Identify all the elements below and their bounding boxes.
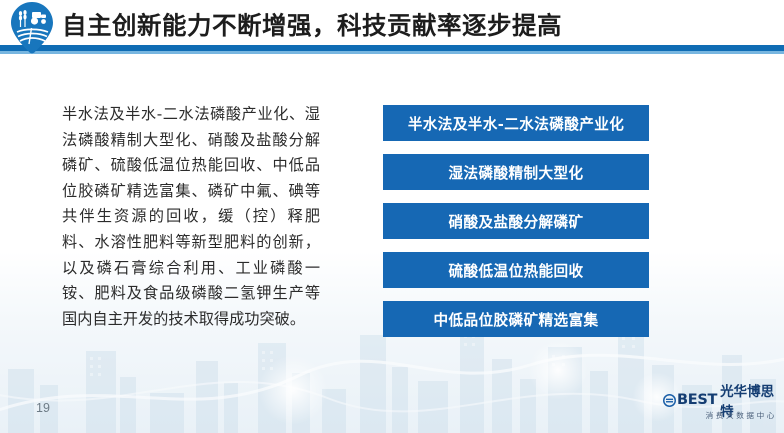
highlight-box[interactable]: 湿法磷酸精制大型化 (383, 154, 649, 190)
page-number: 19 (36, 401, 50, 415)
farm-location-pin-icon (9, 1, 55, 54)
highlight-box-list: 半水法及半水-二水法磷酸产业化 湿法磷酸精制大型化 硝酸及盐酸分解磷矿 硫酸低温… (383, 105, 649, 337)
slide-header: 自主创新能力不断增强，科技贡献率逐步提高 (0, 0, 784, 54)
highlight-box[interactable]: 中低品位胶磷矿精选富集 (383, 301, 649, 337)
highlight-box[interactable]: 硫酸低温位热能回收 (383, 252, 649, 288)
brand-tagline: 消费大数据中心 (663, 410, 777, 421)
best-circle-icon (663, 394, 676, 407)
header-accent-bar-light (0, 51, 784, 54)
body-paragraph: 半水法及半水-二水法磷酸产业化、湿法磷酸精制大型化、硝酸及盐酸分解磷矿、硫酸低温… (62, 102, 320, 332)
brand-logo-row: BEST 光华博思特 (663, 391, 777, 409)
slide-canvas: 自主创新能力不断增强，科技贡献率逐步提高 半水法及半水-二水法磷酸产业化、湿法磷… (0, 0, 784, 433)
brand-logo: BEST 光华博思特 消费大数据中心 (663, 391, 777, 423)
brand-name-en: BEST (677, 392, 717, 408)
highlight-box[interactable]: 硝酸及盐酸分解磷矿 (383, 203, 649, 239)
highlight-box[interactable]: 半水法及半水-二水法磷酸产业化 (383, 105, 649, 141)
page-title: 自主创新能力不断增强，科技贡献率逐步提高 (62, 7, 562, 42)
